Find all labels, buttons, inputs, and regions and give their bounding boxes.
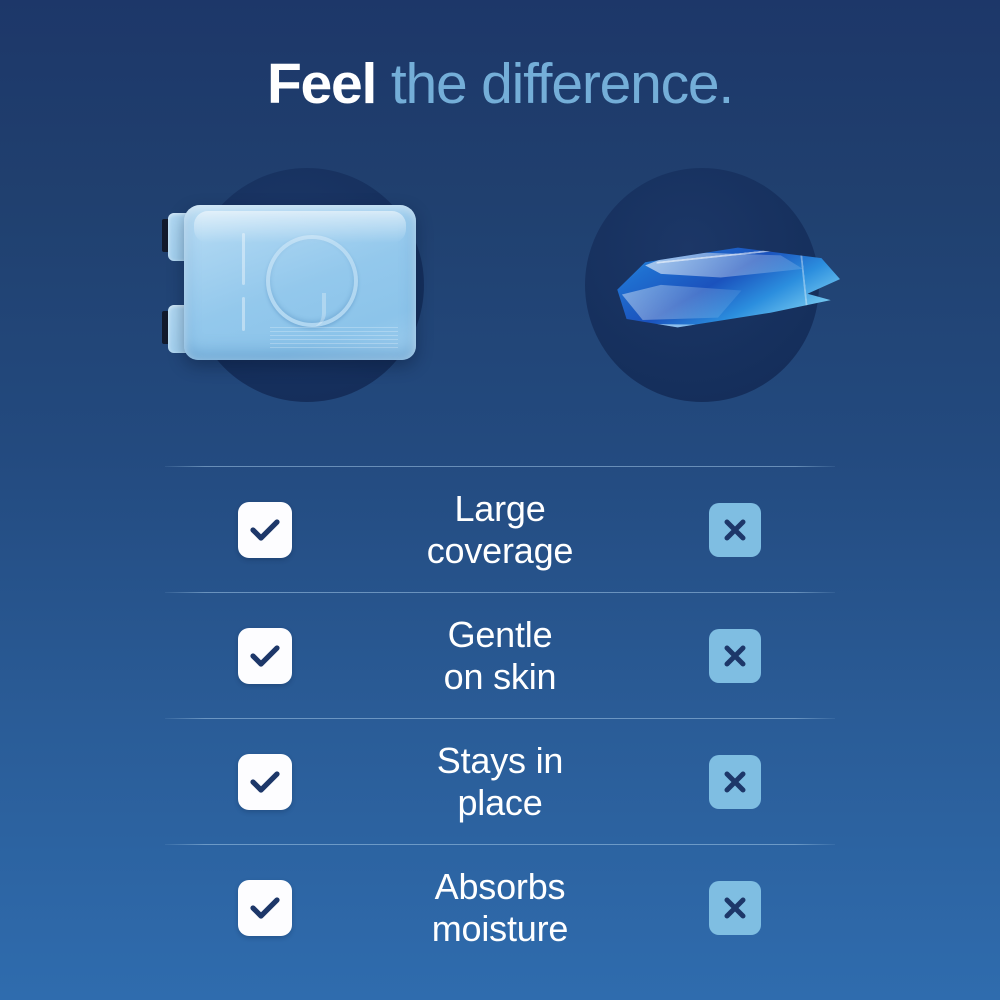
cross-badge bbox=[709, 503, 761, 557]
embossed-logo-icon bbox=[266, 235, 358, 327]
feature-label: Gentle on skin bbox=[365, 614, 635, 698]
feature-comparison-table: Large coverage Gent bbox=[165, 466, 835, 970]
pack-body bbox=[184, 205, 416, 360]
promo-graphic: Feel the difference. bbox=[0, 0, 1000, 1000]
cross-badge bbox=[709, 629, 761, 683]
table-row: Gentle on skin bbox=[165, 593, 835, 718]
feature-label-line1: Gentle bbox=[365, 614, 635, 656]
close-icon bbox=[722, 769, 748, 795]
headline-light: the difference. bbox=[376, 52, 733, 116]
cell-left-mark bbox=[165, 754, 365, 810]
check-badge bbox=[238, 754, 292, 810]
check-icon bbox=[250, 896, 280, 920]
cell-right-mark bbox=[635, 755, 835, 809]
feature-label-line2: on skin bbox=[365, 656, 635, 698]
feature-label-line2: coverage bbox=[365, 530, 635, 572]
cell-right-mark bbox=[635, 503, 835, 557]
feature-label: Stays in place bbox=[365, 740, 635, 824]
check-icon bbox=[250, 770, 280, 794]
check-icon bbox=[250, 644, 280, 668]
check-badge bbox=[238, 628, 292, 684]
cell-right-mark bbox=[635, 881, 835, 935]
large-gel-ice-pack-image bbox=[162, 205, 416, 360]
check-icon bbox=[250, 518, 280, 542]
flat-pack-edge bbox=[613, 324, 789, 334]
pack-seam-upper bbox=[242, 233, 245, 285]
cell-right-mark bbox=[635, 629, 835, 683]
feature-label-line1: Absorbs bbox=[365, 866, 635, 908]
check-badge bbox=[238, 502, 292, 558]
close-icon bbox=[722, 517, 748, 543]
feature-label-line2: moisture bbox=[365, 908, 635, 950]
cell-left-mark bbox=[165, 628, 365, 684]
page-title: Feel the difference. bbox=[0, 52, 1000, 116]
close-icon bbox=[722, 895, 748, 921]
cross-badge bbox=[709, 755, 761, 809]
cell-left-mark bbox=[165, 502, 365, 558]
pack-seam-lower bbox=[242, 297, 245, 331]
close-icon bbox=[722, 643, 748, 669]
cell-left-mark bbox=[165, 880, 365, 936]
feature-label-line1: Stays in bbox=[365, 740, 635, 782]
feature-label-line2: place bbox=[365, 782, 635, 824]
table-row: Large coverage bbox=[165, 467, 835, 592]
feature-label-line1: Large bbox=[365, 488, 635, 530]
flat-gel-pack-image bbox=[608, 235, 840, 340]
table-row: Absorbs moisture bbox=[165, 845, 835, 970]
pack-printed-text bbox=[270, 327, 398, 351]
cross-badge bbox=[709, 881, 761, 935]
feature-label: Large coverage bbox=[365, 488, 635, 572]
product-comparison-images bbox=[0, 160, 1000, 430]
headline-strong: Feel bbox=[267, 52, 376, 116]
feature-label: Absorbs moisture bbox=[365, 866, 635, 950]
check-badge bbox=[238, 880, 292, 936]
table-row: Stays in place bbox=[165, 719, 835, 844]
flat-pack-body bbox=[608, 235, 840, 340]
